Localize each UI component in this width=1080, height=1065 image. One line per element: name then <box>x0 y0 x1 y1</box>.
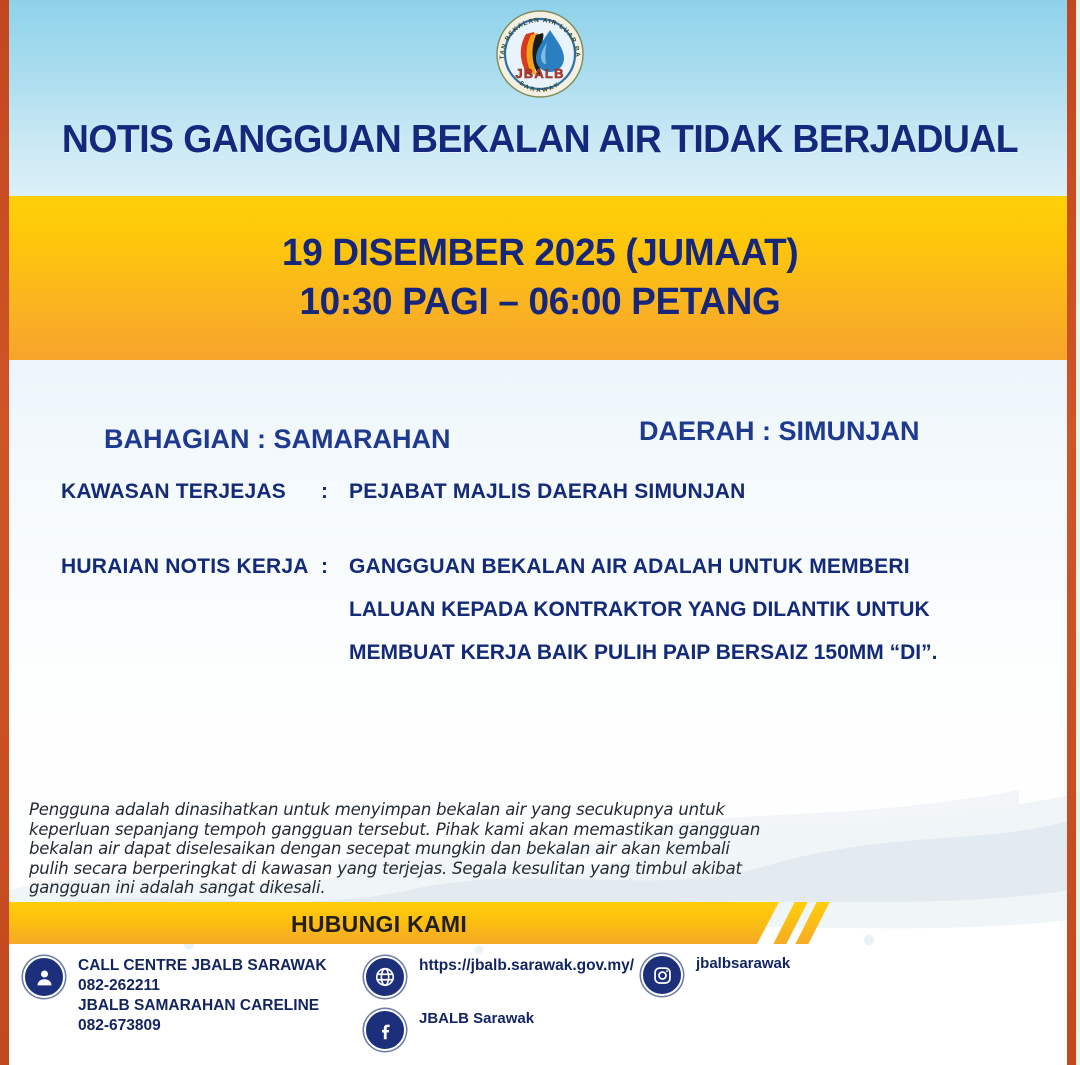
work-description-line-3: MEMBUAT KERJA BAIK PULIH PAIP BERSAIZ 15… <box>349 641 937 665</box>
work-description-label: HURAIAN NOTIS KERJA <box>61 555 309 579</box>
advisory-paragraph: Pengguna adalah dinasihatkan untuk menyi… <box>29 800 774 898</box>
affected-area-label: KAWASAN TERJEJAS <box>61 480 286 504</box>
work-description-line-3-prefix: MEMBUAT KERJA BAIK PULIH PAIP BERSAIZ 15… <box>349 641 890 664</box>
facebook-text: JBALB Sarawak <box>419 1009 534 1029</box>
jbalb-logo: JABATAN BEKALAN AIR LUAR BANDAR SARAWAK … <box>490 4 590 104</box>
left-border-strip <box>0 0 9 1065</box>
logo-acronym: JBALB <box>515 66 564 81</box>
contact-website[interactable]: https://jbalb.sarawak.gov.my/ <box>364 956 634 998</box>
district-label: DAERAH : SIMUNJAN <box>639 416 920 447</box>
call-centre-line-4: 082-673809 <box>78 1017 161 1034</box>
globe-icon <box>364 956 406 998</box>
contact-bar: HUBUNGI KAMI <box>9 902 779 944</box>
instagram-icon <box>641 954 683 996</box>
work-description-line-1: GANGGUAN BEKALAN AIR ADALAH UNTUK MEMBER… <box>349 555 910 579</box>
facebook-icon <box>364 1009 406 1051</box>
right-border-strip <box>1067 0 1076 1065</box>
affected-area-value: PEJABAT MAJLIS DAERAH SIMUNJAN <box>349 480 745 504</box>
call-centre-line-1: CALL CENTRE JBALB SARAWAK <box>78 957 327 974</box>
instagram-text: jbalbsarawak <box>696 954 790 974</box>
call-centre-line-2: 082-262211 <box>78 977 160 994</box>
poster-header: JABATAN BEKALAN AIR LUAR BANDAR SARAWAK … <box>9 0 1071 196</box>
contact-bar-title: HUBUNGI KAMI <box>9 911 749 938</box>
division-label: BAHAGIAN : SAMARAHAN <box>104 424 450 455</box>
person-icon <box>23 956 65 998</box>
page-title: NOTIS GANGGUAN BEKALAN AIR TIDAK BERJADU… <box>30 118 1050 162</box>
call-centre-text: CALL CENTRE JBALB SARAWAK 082-262211 JBA… <box>78 956 327 1036</box>
notice-date: 19 DISEMBER 2025 (JUMAAT) <box>282 232 798 275</box>
date-time-band: 19 DISEMBER 2025 (JUMAAT) 10:30 PAGI – 0… <box>9 196 1071 360</box>
work-description-colon: : <box>321 555 328 579</box>
contact-facebook[interactable]: JBALB Sarawak <box>364 1009 534 1051</box>
notice-time: 10:30 PAGI – 06:00 PETANG <box>300 281 781 324</box>
region-row: BAHAGIAN : SAMARAHAN DAERAH : SIMUNJAN <box>9 390 1071 460</box>
affected-area-colon: : <box>321 480 328 504</box>
contact-instagram[interactable]: jbalbsarawak <box>641 954 790 996</box>
water-disruption-notice-poster: JABATAN BEKALAN AIR LUAR BANDAR SARAWAK … <box>0 0 1080 1065</box>
call-centre-line-3: JBALB SAMARAHAN CARELINE <box>78 997 319 1014</box>
contacts-section: CALL CENTRE JBALB SARAWAK 082-262211 JBA… <box>9 952 1071 1062</box>
work-description-line-3-quoted: “DI”. <box>890 641 938 664</box>
website-text: https://jbalb.sarawak.gov.my/ <box>419 956 634 976</box>
work-description-line-2: LALUAN KEPADA KONTRAKTOR YANG DILANTIK U… <box>349 598 930 622</box>
contact-call-centre[interactable]: CALL CENTRE JBALB SARAWAK 082-262211 JBA… <box>23 956 327 1036</box>
